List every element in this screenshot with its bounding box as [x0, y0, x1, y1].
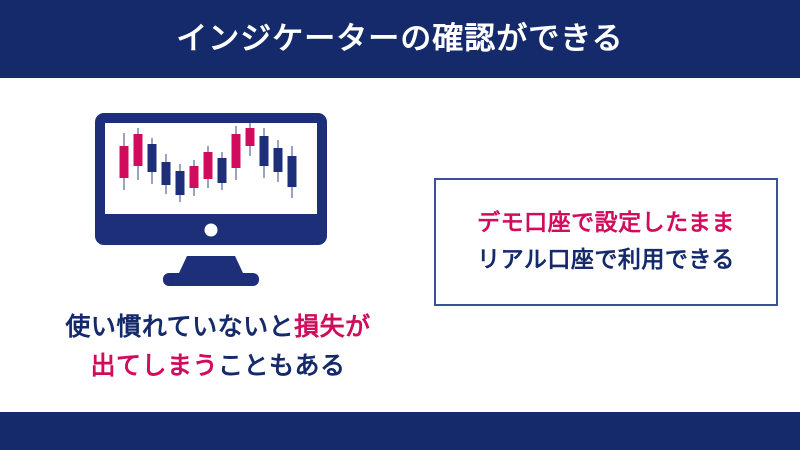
- monitor-icon: [86, 108, 336, 293]
- callout-box: デモ口座で設定したまま リアル口座で利用できる: [434, 178, 778, 306]
- left-caption-line-1: 使い慣れていないと損失が: [18, 308, 418, 347]
- left-caption-line-2: 出てしまうこともある: [18, 347, 418, 386]
- monitor-stand-base: [163, 273, 259, 286]
- callout-line-2: リアル口座で利用できる: [477, 242, 735, 279]
- left-caption-line2-navy: こともある: [218, 351, 346, 380]
- monitor-illustration: [86, 108, 336, 293]
- header-bar: インジケーターの確認ができる: [0, 0, 800, 78]
- footer-bar: [0, 412, 800, 450]
- power-indicator-dot: [205, 224, 218, 237]
- monitor-stand-neck: [179, 256, 243, 273]
- callout-line-1: デモ口座で設定したまま: [477, 205, 735, 242]
- left-caption-line1-crimson: 損失が: [294, 312, 371, 341]
- left-caption-line1-navy: 使い慣れていないと: [65, 312, 294, 341]
- slide-root: インジケーターの確認ができる: [0, 0, 800, 450]
- left-caption: 使い慣れていないと損失が 出てしまうこともある: [18, 308, 418, 386]
- left-caption-line2-crimson: 出てしまう: [90, 351, 218, 380]
- page-title: インジケーターの確認ができる: [176, 24, 623, 55]
